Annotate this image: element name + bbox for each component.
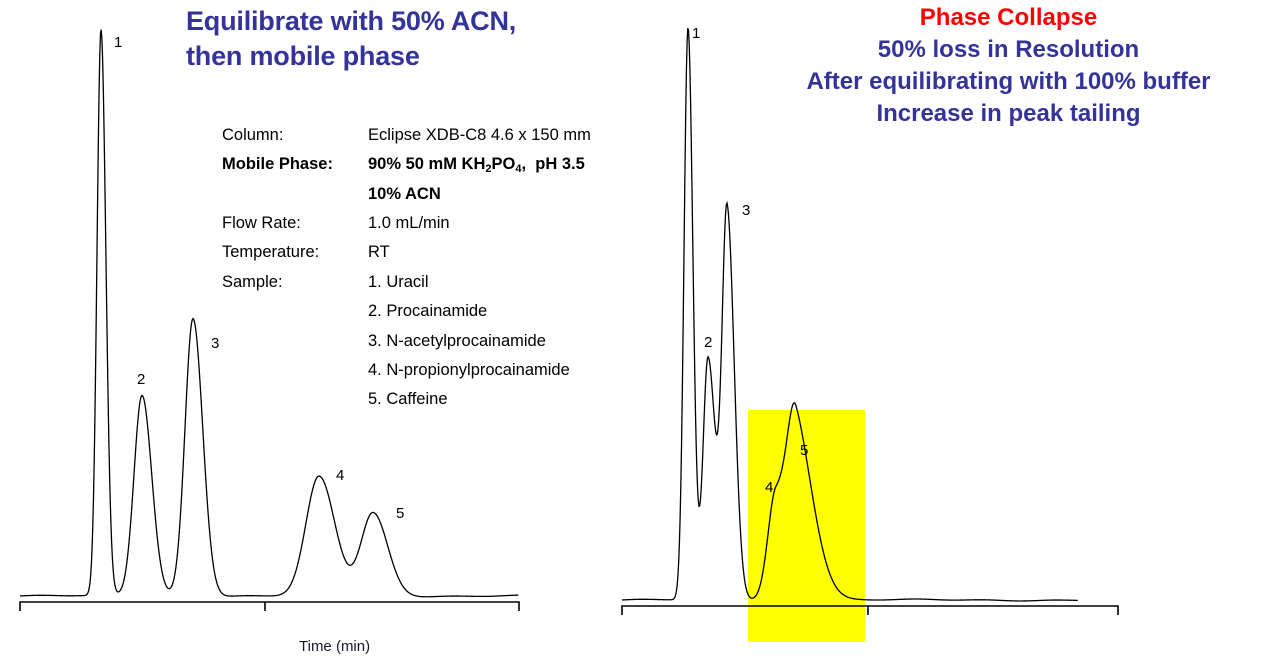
peak-label-5: 5	[800, 442, 808, 459]
peak-label-3: 3	[742, 202, 750, 219]
left-chromatogram: 12345 Time (min)	[0, 0, 560, 667]
peak-label-5: 5	[396, 505, 404, 522]
right-time-axis	[622, 606, 1118, 615]
right-chromatogram: 12345 Time (min)	[600, 0, 1277, 667]
left-time-axis	[20, 602, 519, 611]
peak-label-1: 1	[692, 25, 700, 42]
peak-label-4: 4	[336, 467, 344, 484]
peak-label-2: 2	[704, 334, 712, 351]
peak-label-1: 1	[114, 34, 122, 51]
left-peak-labels: 12345	[114, 34, 404, 522]
peak-label-3: 3	[211, 335, 219, 352]
slide-canvas: Equilibrate with 50% ACN, then mobile ph…	[0, 0, 1277, 667]
left-trace	[20, 30, 518, 597]
right-chromatogram-svg: 12345	[600, 0, 1277, 667]
peak-label-4: 4	[765, 479, 773, 496]
peak-label-2: 2	[137, 371, 145, 388]
left-x-axis-label: Time (min)	[299, 638, 370, 655]
left-chromatogram-svg: 12345	[0, 0, 560, 667]
